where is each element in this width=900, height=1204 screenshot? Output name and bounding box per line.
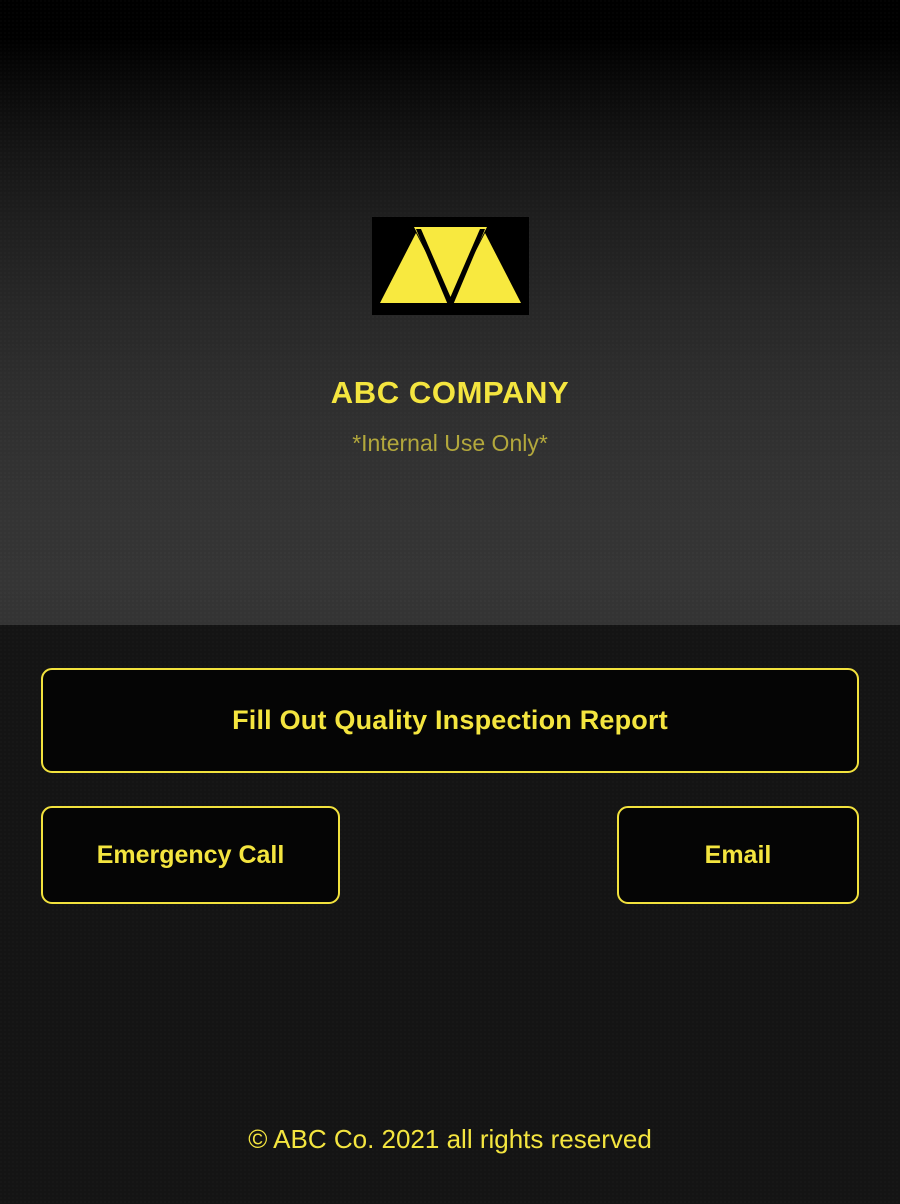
hero-section: ABC COMPANY *Internal Use Only* — [0, 0, 900, 625]
fill-out-quality-inspection-report-button[interactable]: Fill Out Quality Inspection Report — [41, 668, 859, 773]
actions-section: Fill Out Quality Inspection Report Emerg… — [0, 625, 900, 1204]
triangles-logo-icon — [372, 217, 529, 315]
footer-copyright: © ABC Co. 2021 all rights reserved — [0, 1126, 900, 1152]
secondary-actions-row: Emergency Call Email — [41, 806, 859, 904]
page-subtitle: *Internal Use Only* — [352, 432, 548, 455]
company-logo — [372, 217, 529, 315]
emergency-call-button[interactable]: Emergency Call — [41, 806, 340, 904]
email-button[interactable]: Email — [617, 806, 859, 904]
page-title: ABC COMPANY — [331, 377, 570, 408]
app-root: ABC COMPANY *Internal Use Only* Fill Out… — [0, 0, 900, 1204]
